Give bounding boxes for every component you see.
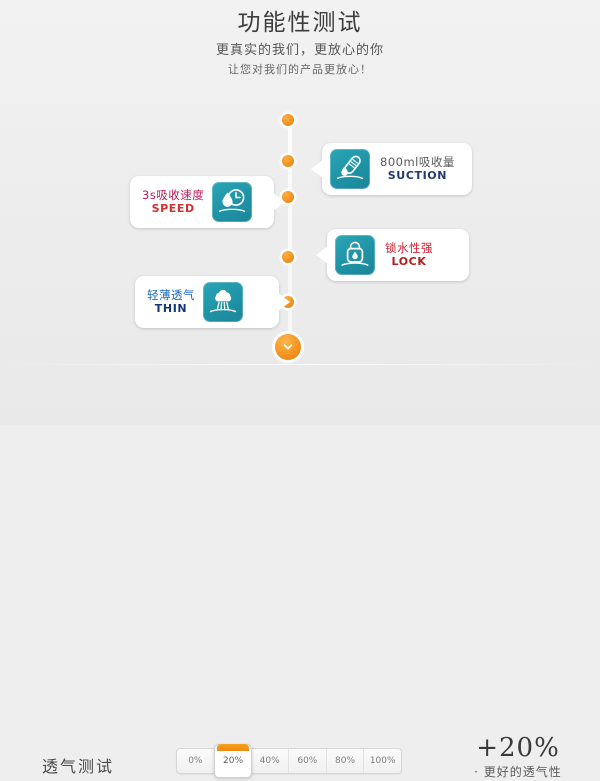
poster-root: 功能性测试 更真实的我们，更放心的你 让您对我们的产品更放心！ 3s吸收速度 S…	[0, 0, 600, 425]
feature-card-suction-text: 800ml吸收量 SUCTION	[370, 155, 455, 183]
feature-card-speed-text: 3s吸收速度 SPEED	[142, 188, 212, 216]
timeline-dot-1	[282, 114, 294, 126]
clock-drop-icon	[212, 182, 252, 222]
result-subtitle: · 更好的透气性	[448, 763, 588, 781]
speech-tail-right	[278, 293, 290, 311]
feature-card-speed-en: SPEED	[142, 202, 204, 216]
chevron-down-icon	[275, 334, 301, 360]
feature-card-speed[interactable]: 3s吸收速度 SPEED	[130, 176, 274, 228]
breathable-tree-icon	[203, 282, 243, 322]
header: 功能性测试 更真实的我们，更放心的你 让您对我们的产品更放心！	[0, 8, 600, 78]
slider-tick-1[interactable]: 20%	[214, 744, 253, 778]
feature-card-thin-text: 轻薄透气 THIN	[147, 288, 203, 316]
feature-card-thin-cn: 轻薄透气	[147, 288, 195, 302]
speech-tail-left	[316, 246, 328, 264]
slider-tick-5[interactable]: 100%	[364, 749, 401, 773]
breathability-test-section: 透气测试 0% 20% 40% 60% 80% 100% +20% · 更好的透…	[0, 365, 600, 425]
test-tube-icon	[330, 149, 370, 189]
slider-tick-2[interactable]: 40%	[251, 749, 289, 773]
slider-tick-0[interactable]: 0%	[177, 749, 215, 773]
feature-card-lock-en: LOCK	[385, 255, 433, 269]
feature-card-thin-en: THIN	[147, 302, 195, 316]
breathability-result: +20% · 更好的透气性	[448, 733, 588, 781]
breathability-slider[interactable]: 0% 20% 40% 60% 80% 100%	[176, 748, 402, 774]
feature-card-suction[interactable]: 800ml吸收量 SUCTION	[322, 143, 472, 195]
feature-card-suction-en: SUCTION	[380, 169, 455, 183]
timeline-dot-2	[282, 155, 294, 167]
timeline-dot-4	[282, 251, 294, 263]
breathability-test-label: 透气测试	[42, 753, 114, 777]
speech-tail-left	[311, 160, 323, 178]
feature-card-lock-text: 锁水性强 LOCK	[375, 241, 433, 269]
timeline-track	[288, 114, 292, 352]
feature-card-lock[interactable]: 锁水性强 LOCK	[327, 229, 469, 281]
slider-tick-3[interactable]: 60%	[289, 749, 327, 773]
feature-card-lock-cn: 锁水性强	[385, 241, 433, 255]
feature-card-thin[interactable]: 轻薄透气 THIN	[135, 276, 279, 328]
page-subtitle-secondary: 让您对我们的产品更放心！	[0, 61, 600, 78]
result-percentage: +20%	[448, 733, 588, 763]
feature-card-speed-cn: 3s吸收速度	[142, 188, 204, 202]
feature-card-suction-cn: 800ml吸收量	[380, 155, 455, 169]
padlock-drop-icon	[335, 235, 375, 275]
page-subtitle-primary: 更真实的我们，更放心的你	[0, 41, 600, 61]
slider-tick-4[interactable]: 80%	[327, 749, 365, 773]
speech-tail-right	[273, 193, 285, 211]
page-title: 功能性测试	[0, 8, 600, 38]
